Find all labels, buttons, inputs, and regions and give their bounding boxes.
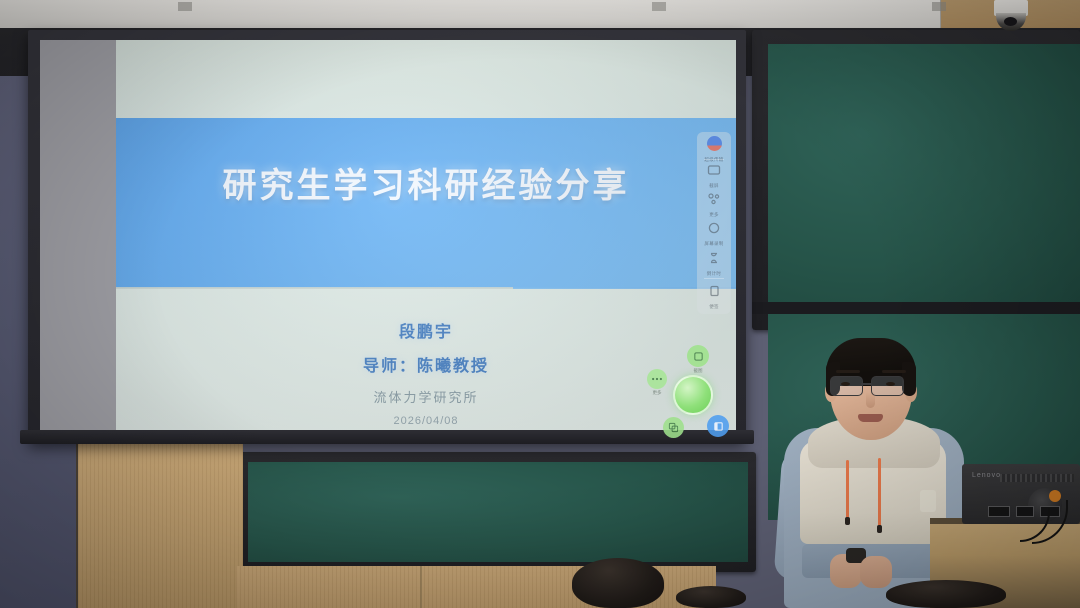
- toolbar-separator: [704, 159, 724, 160]
- slide-date: 2026/04/08: [116, 415, 736, 427]
- toolbar-item-screen-record[interactable]: 屏幕录制: [697, 221, 731, 247]
- eye-left: [841, 382, 850, 386]
- glasses-bridge: [861, 383, 871, 385]
- sleeve-badge: [920, 490, 936, 512]
- drawstring-left: [846, 460, 849, 518]
- window-icon[interactable]: [707, 415, 729, 437]
- toolbar-label: 屏幕录制: [697, 241, 731, 247]
- mouth: [858, 414, 883, 422]
- blackboard-lower: [248, 462, 748, 562]
- nose: [866, 392, 875, 408]
- toolbar-label: 倒计时: [697, 271, 731, 277]
- screenshot-icon: [707, 163, 721, 177]
- drawstring-tip-left: [845, 517, 850, 525]
- timer-icon: [707, 251, 721, 265]
- toolbar-label: 便签: [697, 304, 731, 310]
- lens-right: [871, 376, 904, 396]
- toolbar-label: 更多: [697, 212, 731, 218]
- slide-advisor: 导师：陈曦教授: [116, 352, 736, 376]
- share-nodes-icon: [707, 192, 721, 206]
- slide-title: 研究生学习科研经验分享: [116, 158, 736, 207]
- slide-top-band: [116, 40, 736, 118]
- valance-tab: [178, 2, 192, 11]
- note-icon: [707, 284, 721, 298]
- copy-icon[interactable]: [663, 417, 684, 438]
- blackboard-upper: [768, 44, 1080, 302]
- capture-icon[interactable]: [687, 345, 709, 367]
- slide-divider-rule: [116, 287, 736, 289]
- screen-bottom-ledge: [20, 430, 754, 444]
- wood-seam: [420, 566, 422, 608]
- toolbar-item-note[interactable]: 便签: [697, 284, 731, 310]
- toolbar-item-screenshot[interactable]: 截屏: [697, 163, 731, 189]
- eyebrow-left: [836, 370, 860, 373]
- blackboard-divider: [752, 302, 1080, 314]
- floating-assistive-menu[interactable]: 截图 更多: [645, 345, 740, 440]
- audience-head: [886, 580, 1006, 608]
- assistive-touch-button[interactable]: [673, 375, 713, 415]
- more-dots-icon[interactable]: [647, 369, 667, 389]
- audience-head: [572, 558, 664, 608]
- toolbar-separator: [704, 278, 724, 279]
- toolbar-item-timer[interactable]: 倒计时: [697, 251, 731, 277]
- hand-right: [860, 556, 892, 588]
- eyebrow-right: [882, 370, 906, 373]
- audience-head: [676, 586, 746, 608]
- valance-tab: [932, 2, 946, 11]
- eye-right: [886, 382, 895, 386]
- fab-label: 截图: [683, 368, 713, 374]
- monitor-brand-label: Lenovo: [972, 472, 1001, 479]
- drawstring-tip-right: [877, 525, 882, 533]
- valance-tab: [652, 2, 666, 11]
- camera-lens-icon: [1004, 17, 1017, 26]
- lens-left: [830, 376, 863, 396]
- slide-author: 段鹏宇: [116, 318, 736, 342]
- app-launcher-icon: [707, 136, 722, 151]
- fab-label: 更多: [642, 390, 672, 396]
- wall-wood-panel: [76, 438, 243, 608]
- toolbar-item-more[interactable]: 更多: [697, 192, 731, 218]
- monitor-port: [988, 506, 1010, 517]
- smartboard-toolbar[interactable]: 超级传输 截屏 更多 屏幕录制: [697, 132, 731, 314]
- classroom-scene: 研究生学习科研经验分享 段鹏宇 导师：陈曦教授 流体力学研究所 2026/04/…: [0, 0, 1080, 608]
- toolbar-label: 截屏: [697, 183, 731, 189]
- monitor-vent: [1000, 474, 1074, 482]
- screen-record-icon: [707, 221, 721, 235]
- presentation-slide: 研究生学习科研经验分享 段鹏宇 导师：陈曦教授 流体力学研究所 2026/04/…: [116, 40, 736, 437]
- drawstring-right: [878, 458, 881, 526]
